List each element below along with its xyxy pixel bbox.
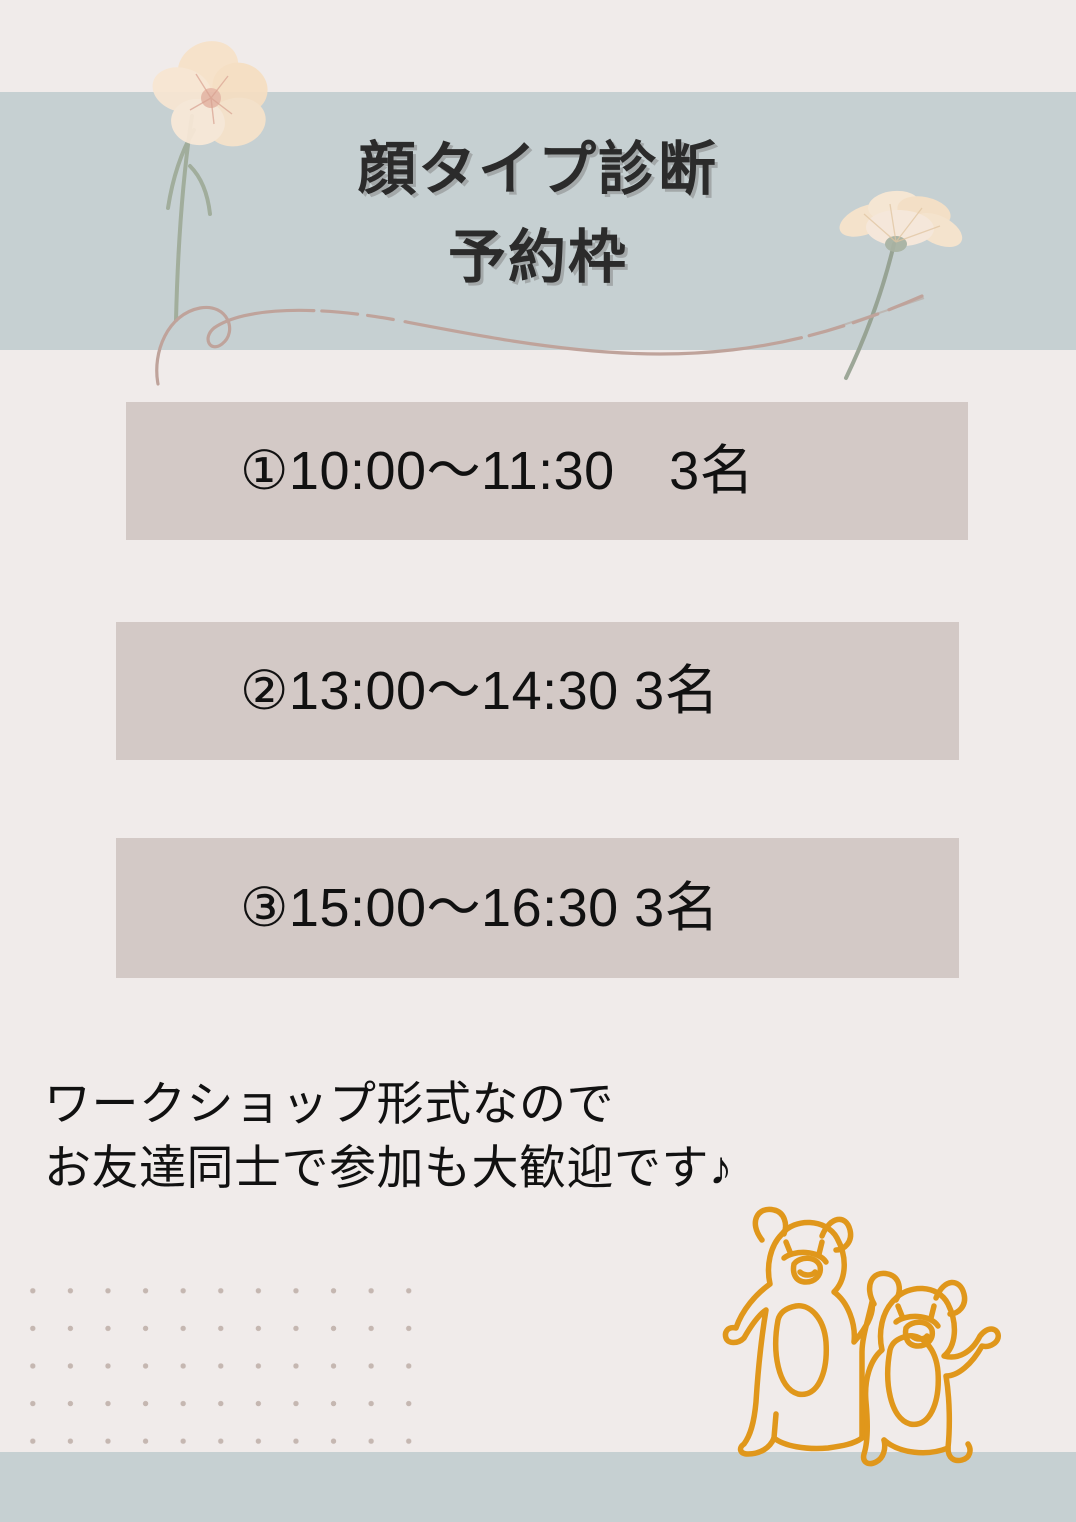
dot-grid-pattern [0,1264,420,1464]
time-slot-box-3[interactable]: ③15:00〜16:30 3名 [116,838,959,978]
poster-canvas: 顔タイプ診断 予約枠 ①10:00〜11:30 3名 ②13:00〜14:30 … [0,0,1076,1522]
page-title: 顔タイプ診断 予約枠 [0,126,1076,302]
time-slot-label-3: ③15:00〜16:30 3名 [240,881,719,935]
title-line-2: 予約枠 [0,214,1076,302]
two-bears-illustration-icon [722,1192,1032,1474]
time-slot-box-1[interactable]: ①10:00〜11:30 3名 [126,402,968,540]
time-slot-label-2: ②13:00〜14:30 3名 [240,664,719,718]
description-line-2: お友達同士で参加も大歓迎です♪ [44,1136,733,1200]
description-text: ワークショップ形式なので お友達同士で参加も大歓迎です♪ [44,1072,733,1200]
description-line-1: ワークショップ形式なので [44,1072,733,1136]
time-slot-box-2[interactable]: ②13:00〜14:30 3名 [116,622,959,760]
title-line-1: 顔タイプ診断 [0,126,1076,214]
time-slot-label-1: ①10:00〜11:30 3名 [240,444,754,498]
